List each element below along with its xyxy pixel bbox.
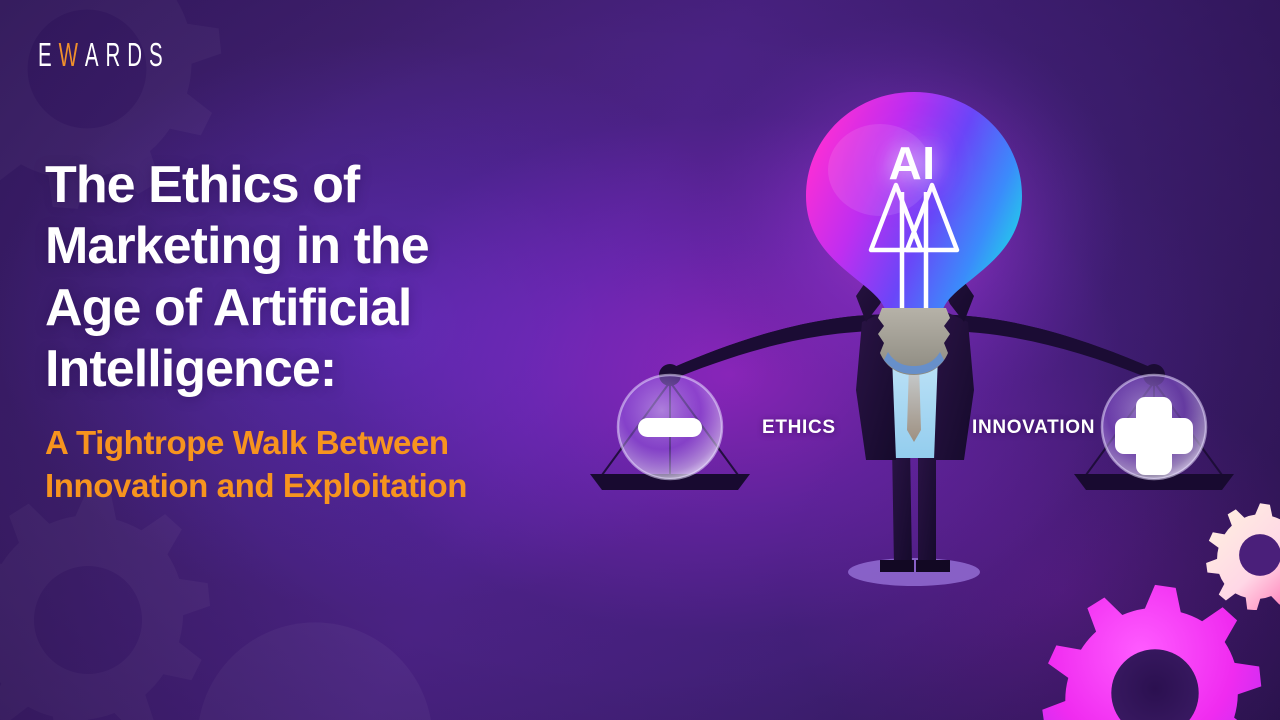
- title-line-4: Intelligence:: [45, 339, 645, 400]
- banner-root: EWARDS The Ethics of Marketing in the Ag…: [0, 0, 1280, 720]
- minus-icon: [638, 418, 702, 437]
- figure-tie: [907, 364, 921, 442]
- figure-shoe-right: [916, 560, 950, 572]
- figure-leg-left: [892, 445, 912, 566]
- title-line-1: The Ethics of: [45, 155, 645, 216]
- logo-letter-e: E: [38, 36, 59, 74]
- logo-letters-ards: ARDS: [85, 36, 170, 74]
- label-innovation: INNOVATION: [972, 417, 1095, 439]
- title-line-2: Marketing in the: [45, 216, 645, 277]
- subtitle-line-1: A Tightrope Walk Between: [45, 424, 449, 461]
- subtitle-line-2: Innovation and Exploitation: [45, 467, 467, 504]
- page-subtitle: A Tightrope Walk Between Innovation and …: [45, 422, 605, 506]
- bulb-highlight: [828, 124, 932, 216]
- logo-letter-w-accent: W: [59, 36, 85, 74]
- figure-leg-right: [918, 445, 936, 566]
- title-line-3: Age of Artificial: [45, 278, 645, 339]
- headline-block: The Ethics of Marketing in the Age of Ar…: [45, 155, 645, 507]
- gear-small-icon: [1205, 500, 1280, 610]
- page-title: The Ethics of Marketing in the Age of Ar…: [45, 155, 645, 400]
- figure-shoe-left: [880, 560, 914, 572]
- label-ethics: ETHICS: [762, 417, 836, 439]
- brand-logo[interactable]: EWARDS: [38, 36, 170, 74]
